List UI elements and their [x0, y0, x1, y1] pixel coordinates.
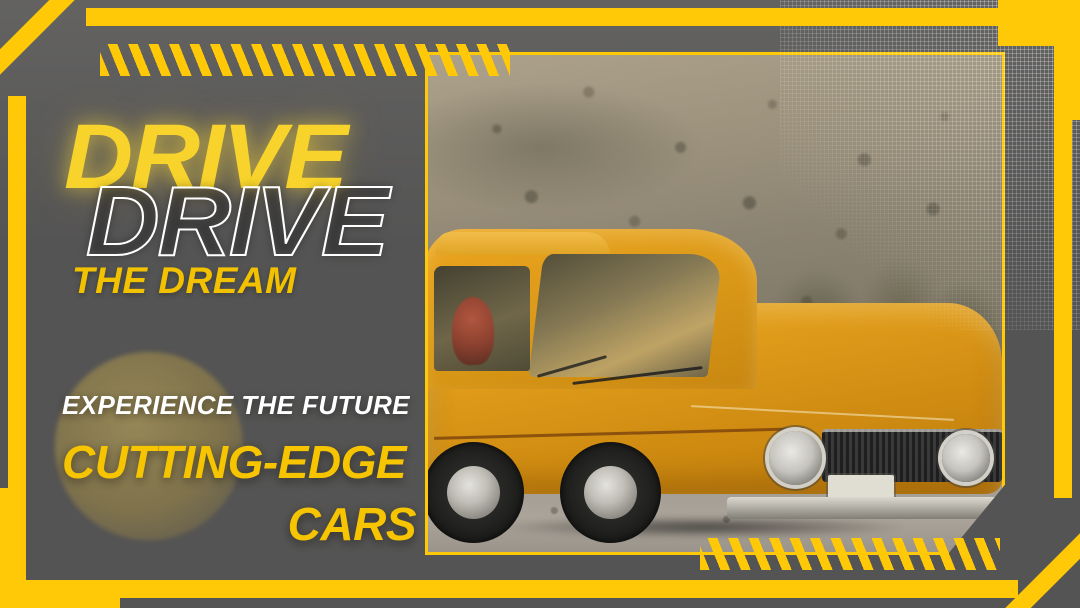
photo-tone-overlay [428, 55, 1002, 552]
lower-line-1: CUTTING-EDGE [62, 435, 422, 489]
frame-border-top [86, 8, 1080, 26]
poster-canvas: DRIVE DRIVE THE DREAM EXPERIENCE THE FUT… [0, 0, 1080, 608]
corner-block-top-right-2 [1054, 0, 1080, 120]
lower-eyebrow: EXPERIENCE THE FUTURE [62, 390, 422, 421]
hero-photo-frame [425, 52, 1005, 555]
lower-copy-block: EXPERIENCE THE FUTURE CUTTING-EDGE CARS [62, 390, 422, 551]
hero-photo [428, 55, 1002, 552]
corner-block-bottom-left-2 [0, 488, 26, 608]
frame-border-bottom [8, 580, 1018, 598]
headline-title-outline: DRIVE [86, 180, 387, 263]
diagonal-stripes-top [100, 44, 510, 76]
lower-line-2: CARS [62, 497, 422, 551]
diagonal-stripes-bottom [700, 538, 1000, 570]
headline-block: DRIVE DRIVE THE DREAM [64, 118, 464, 318]
headline-subtitle: THE DREAM [72, 260, 296, 302]
